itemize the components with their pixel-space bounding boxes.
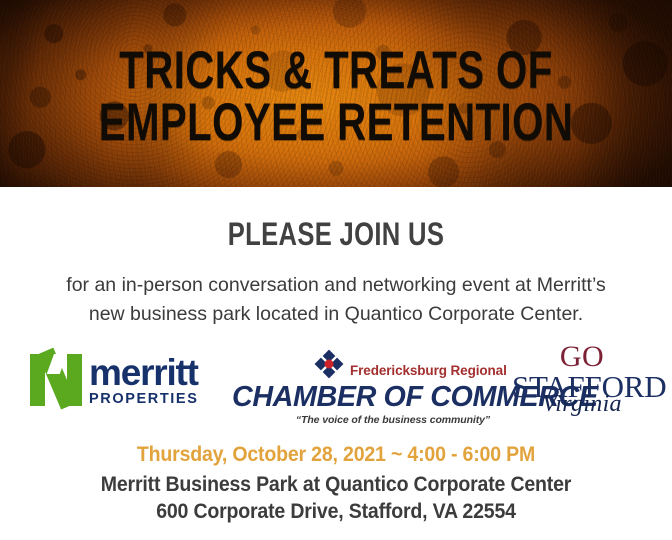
event-address: 600 Corporate Drive, Stafford, VA 22554 [24,498,649,525]
merritt-subtitle: PROPERTIES [89,392,198,407]
stafford-go-text: GO [512,343,652,371]
invite-lead-paragraph: for an in-person conversation and networ… [0,271,672,329]
invite-heading: PLEASE JOIN US [67,217,605,251]
banner-title-line-1: TRICKS & TREATS OF [81,45,592,97]
event-date-time: Thursday, October 28, 2021 ~ 4:00 - 6:00… [24,441,649,469]
chamber-diamond-icon [314,349,344,379]
event-details: Thursday, October 28, 2021 ~ 4:00 - 6:00… [0,441,672,525]
merritt-mark-right-bar [67,354,82,406]
merritt-properties-logo: merritt PROPERTIES [30,353,198,407]
chamber-eyebrow: Fredericksburg Regional [350,363,507,378]
sponsor-logo-row: merritt PROPERTIES [0,343,672,435]
invite-lead-line-2: new business park located in Quantico Co… [32,300,640,329]
header-banner: TRICKS & TREATS OF EMPLOYEE RETENTION [0,0,672,187]
event-venue: Merritt Business Park at Quantico Corpor… [24,471,649,498]
merritt-name: merritt [89,355,198,391]
merritt-m-mark-icon [30,354,82,406]
merritt-wordmark: merritt PROPERTIES [89,353,198,407]
flyer-body: PLEASE JOIN US for an in-person conversa… [0,217,672,525]
chamber-name: CHAMBER OF COMMERCE [232,382,491,412]
banner-title-line-2: EMPLOYEE RETENTION [81,97,592,149]
chamber-logo-top-row: Fredericksburg Regional [232,349,494,381]
chamber-tagline: “The voice of the business community” [232,414,494,426]
event-flyer: TRICKS & TREATS OF EMPLOYEE RETENTION PL… [0,0,672,540]
banner-title: TRICKS & TREATS OF EMPLOYEE RETENTION [0,45,672,149]
invite-lead-line-1: for an in-person conversation and networ… [32,271,640,300]
chamber-of-commerce-logo: Fredericksburg Regional CHAMBER OF COMME… [232,349,494,426]
go-stafford-virginia-logo: GO STAFFORD Virginia [512,343,652,414]
